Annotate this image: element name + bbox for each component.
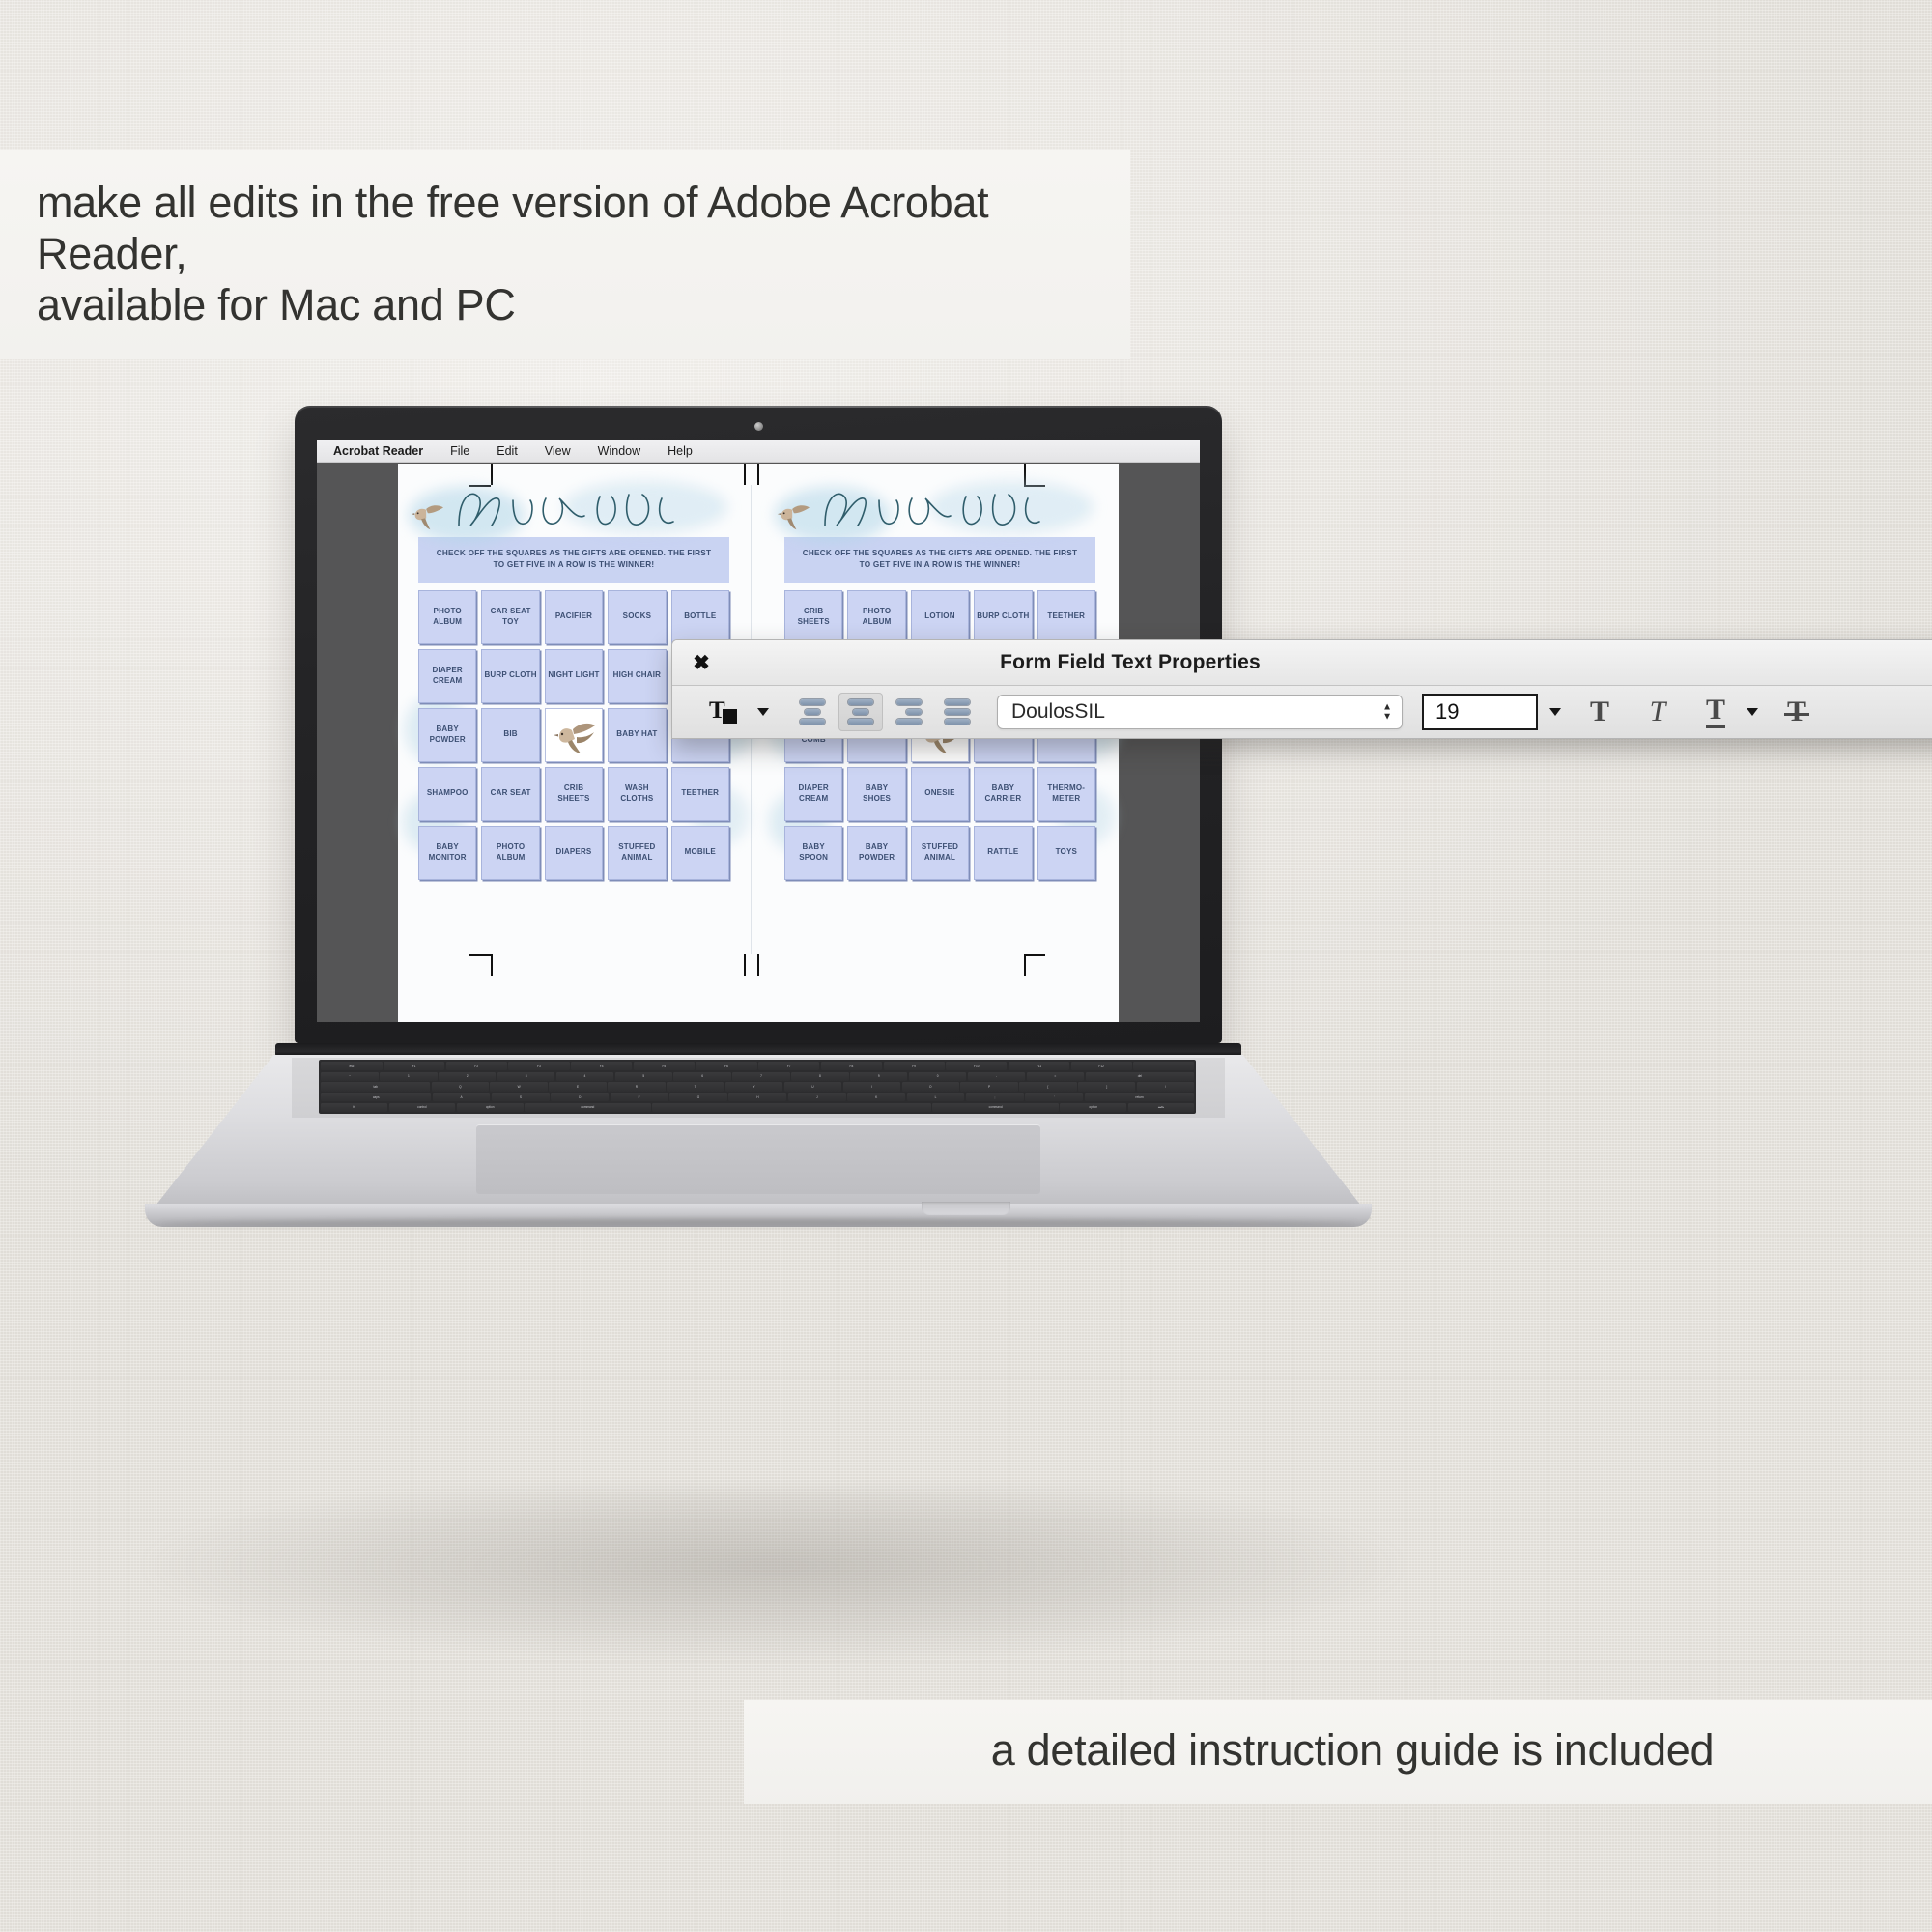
key[interactable]: \ [1137,1082,1194,1091]
key-arrows[interactable]: ◂▴▾▸ [1128,1103,1195,1112]
key[interactable]: Y [725,1082,782,1091]
key[interactable]: 0 [909,1072,966,1081]
key[interactable]: W [490,1082,547,1091]
align-left-button[interactable] [790,693,835,731]
close-icon[interactable]: ✖ [692,653,711,672]
key[interactable]: esc [321,1062,382,1070]
bingo-cell[interactable]: BOTTLE [671,590,729,644]
key[interactable] [1133,1062,1194,1070]
bingo-cell[interactable]: CAR SEAT TOY [481,590,539,644]
keyboard-row-bottom: fn control option command command option… [321,1103,1194,1112]
bingo-cell[interactable]: BABY SHOES [847,767,905,821]
key[interactable]: R [608,1082,665,1091]
bingo-cell[interactable]: WASH CLOTHS [608,767,666,821]
bingo-cell[interactable]: NIGHT LIGHT [545,649,603,703]
key[interactable]: E [549,1082,606,1091]
bingo-cell[interactable]: STUFFED ANIMAL [608,826,666,880]
key[interactable]: L [907,1093,965,1101]
key[interactable]: = [1027,1072,1084,1081]
key[interactable]: F [611,1093,668,1101]
key[interactable]: 4 [556,1072,613,1081]
bingo-cell[interactable]: STUFFED ANIMAL [911,826,969,880]
acrobat-workspace: CHECK OFF THE SQUARES AS THE GIFTS ARE O… [317,464,1200,1022]
bingo-cell[interactable]: PHOTO ALBUM [847,590,905,644]
keyboard[interactable]: esc F1 F2 F3 F4 F5 F6 F7 F8 F9 F10 F11 F… [319,1060,1196,1114]
font-size-value: 19 [1435,699,1459,724]
key-option[interactable]: option [457,1103,524,1112]
bingo-cell[interactable]: MOBILE [671,826,729,880]
bingo-cell[interactable]: SOCKS [608,590,666,644]
underline-chevron-down-icon[interactable] [1747,708,1758,716]
text-color-button[interactable]: T [699,693,752,731]
italic-icon: T [1650,697,1666,726]
card-script-title [790,481,1080,537]
dialog-toolbar[interactable]: T [672,686,1932,738]
underline-icon: T [1706,696,1725,728]
bingo-cell[interactable]: THERMO-METER [1037,767,1095,821]
bingo-cell[interactable]: TEETHER [1037,590,1095,644]
bingo-cell[interactable]: SHAMPOO [418,767,476,821]
crop-mark-br-v [1024,954,1026,976]
bingo-cell[interactable]: CAR SEAT [481,767,539,821]
bingo-cell[interactable]: BABY POWDER [418,708,476,762]
key[interactable]: ; [966,1093,1024,1101]
screenshot-canvas: make all edits in the free version of Ad… [0,0,1932,1932]
crop-mark-br-h [1024,954,1045,956]
macos-menubar[interactable]: Acrobat Reader File Edit View Window Hel… [317,440,1200,463]
crop-mark-bl-v [491,954,493,976]
key[interactable]: I [843,1082,900,1091]
bingo-cell[interactable]: ONESIE [911,767,969,821]
bingo-cell[interactable]: PACIFIER [545,590,603,644]
key[interactable]: F2 [446,1062,507,1070]
align-right-icon [896,699,922,724]
key[interactable]: F10 [946,1062,1007,1070]
menu-item-file[interactable]: File [437,444,483,458]
menu-item-help[interactable]: Help [654,444,706,458]
keyboard-row-number: ~ 1 2 3 4 5 6 7 8 9 0 - = del [321,1072,1194,1081]
menu-item-view[interactable]: View [531,444,584,458]
menu-item-window[interactable]: Window [584,444,654,458]
align-justify-button[interactable] [935,693,980,731]
key[interactable]: F9 [884,1062,945,1070]
key-control[interactable]: control [389,1103,456,1112]
key[interactable]: P [960,1082,1017,1091]
bird-illustration [407,498,447,531]
crop-mark-tm2-v [757,464,759,485]
key[interactable]: 1 [380,1072,437,1081]
font-family-select[interactable]: DoulosSIL ▲▼ [997,695,1403,729]
key-fn[interactable]: fn [321,1103,387,1112]
align-center-button[interactable] [838,693,883,731]
key[interactable]: 2 [439,1072,496,1081]
lid-highlight [295,406,1222,408]
laptop-front-notch [922,1202,1010,1215]
card-instruction-right: CHECK OFF THE SQUARES AS THE GIFTS ARE O… [784,537,1095,583]
key[interactable]: F3 [508,1062,569,1070]
font-size-input[interactable]: 19 [1422,694,1538,730]
key-caps-lock[interactable]: caps [321,1093,431,1101]
key[interactable]: ' [1025,1093,1083,1101]
bingo-cell[interactable]: TEETHER [671,767,729,821]
key[interactable]: U [784,1082,841,1091]
key[interactable]: 5 [615,1072,672,1081]
key-return[interactable]: return [1085,1093,1195,1101]
bingo-cell[interactable]: CRIB SHEETS [784,590,842,644]
align-left-icon [800,699,825,724]
bingo-cell[interactable]: LOTION [911,590,969,644]
key[interactable]: - [968,1072,1025,1081]
bingo-cell[interactable]: CRIB SHEETS [545,767,603,821]
key[interactable]: G [669,1093,727,1101]
text-color-icon: T [709,697,742,726]
bingo-cell[interactable]: TOYS [1037,826,1095,880]
key[interactable]: 9 [850,1072,907,1081]
chevron-down-icon[interactable] [757,708,769,716]
bold-button[interactable]: T [1573,693,1627,731]
key[interactable]: 6 [673,1072,730,1081]
key[interactable]: F1 [384,1062,444,1070]
bingo-cell[interactable]: DIAPER CREAM [784,767,842,821]
align-right-button[interactable] [887,693,931,731]
key[interactable]: Q [432,1082,489,1091]
key[interactable]: F4 [571,1062,632,1070]
crop-mark-tm1-v [744,464,746,485]
bingo-cell[interactable]: BABY HAT [608,708,666,762]
chevron-updown-icon[interactable]: ▲▼ [1382,704,1392,721]
laptop-base: esc F1 F2 F3 F4 F5 F6 F7 F8 F9 F10 F11 F… [145,1055,1372,1219]
webcam-icon [754,422,763,431]
laptop-contact-shadow [159,1219,1357,1229]
bingo-cell[interactable]: BABY POWDER [847,826,905,880]
crop-mark-bl-h [469,954,491,956]
strikethrough-button[interactable]: T [1770,693,1824,731]
key[interactable]: T [667,1082,724,1091]
bingo-cell[interactable]: BURP CLOTH [974,590,1032,644]
key[interactable]: D [551,1093,609,1101]
bingo-free-space[interactable] [545,708,603,762]
key[interactable]: 3 [497,1072,554,1081]
key[interactable]: J [788,1093,846,1101]
key[interactable]: ] [1078,1082,1135,1091]
align-center-icon [848,699,873,724]
key-command[interactable]: command [525,1103,651,1112]
keyboard-row-function: esc F1 F2 F3 F4 F5 F6 F7 F8 F9 F10 F11 F… [321,1062,1194,1070]
bingo-cell[interactable]: HIGH CHAIR [608,649,666,703]
pdf-page[interactable]: CHECK OFF THE SQUARES AS THE GIFTS ARE O… [398,464,1119,1022]
bird-illustration [773,498,813,531]
bird-illustration [552,716,596,754]
key[interactable]: A [433,1093,491,1101]
bingo-cell[interactable]: BURP CLOTH [481,649,539,703]
key[interactable]: K [847,1093,905,1101]
key-tab[interactable]: tab [321,1082,430,1091]
bold-icon: T [1590,697,1609,726]
key-space[interactable] [652,1103,931,1112]
crop-mark-bm2-v [757,954,759,976]
lid-hinge [275,1043,1241,1057]
dialog-title: Form Field Text Properties [672,651,1932,674]
key[interactable]: ~ [321,1072,378,1081]
align-justify-icon [945,699,970,724]
strikethrough-icon: T [1787,697,1806,726]
menubar-app-name[interactable]: Acrobat Reader [333,444,437,458]
menu-item-edit[interactable]: Edit [483,444,531,458]
keyboard-row-top: tab Q W E R T Y U I O P [ ] \ [321,1082,1194,1091]
font-family-value: DoulosSIL [1011,700,1105,724]
bingo-cell[interactable]: DIAPERS [545,826,603,880]
keyboard-row-home: caps A S D F G H J K L ; ' return [321,1093,1194,1101]
key[interactable]: H [728,1093,786,1101]
key[interactable]: F6 [696,1062,756,1070]
bingo-cell[interactable]: BIB [481,708,539,762]
bingo-cell[interactable]: RATTLE [974,826,1032,880]
key-command-right[interactable]: command [932,1103,1059,1112]
bingo-cell[interactable]: DIAPER CREAM [418,649,476,703]
key[interactable]: F12 [1071,1062,1132,1070]
key-delete[interactable]: del [1086,1072,1195,1081]
key[interactable]: F7 [758,1062,819,1070]
caption-bottom: a detailed instruction guide is included [744,1700,1932,1804]
key[interactable]: [ [1019,1082,1076,1091]
bingo-cell[interactable]: BABY MONITOR [418,826,476,880]
bingo-cell[interactable]: PHOTO ALBUM [418,590,476,644]
key-option-right[interactable]: option [1060,1103,1126,1112]
form-field-text-properties-dialog[interactable]: ✖ Form Field Text Properties T [671,639,1932,739]
base-surface: esc F1 F2 F3 F4 F5 F6 F7 F8 F9 F10 F11 F… [145,1055,1372,1219]
crop-mark-bm1-v [744,954,746,976]
card-instruction-left: CHECK OFF THE SQUARES AS THE GIFTS ARE O… [418,537,729,583]
bingo-cell[interactable]: BABY SPOON [784,826,842,880]
trackpad[interactable] [476,1124,1040,1194]
key[interactable]: O [902,1082,959,1091]
bingo-cell[interactable]: PHOTO ALBUM [481,826,539,880]
italic-button[interactable]: T [1631,693,1685,731]
key[interactable]: F8 [821,1062,882,1070]
key[interactable]: 7 [732,1072,789,1081]
key[interactable]: F5 [634,1062,695,1070]
font-size-chevron-down-icon[interactable] [1549,708,1561,716]
underline-button[interactable]: T [1689,693,1743,731]
dialog-titlebar[interactable]: ✖ Form Field Text Properties [672,640,1932,686]
key[interactable]: 8 [791,1072,848,1081]
bingo-cell[interactable]: BABY CARRIER [974,767,1032,821]
key[interactable]: F11 [1009,1062,1069,1070]
key[interactable]: S [492,1093,550,1101]
card-script-title [424,481,714,537]
laptop-mockup: Acrobat Reader File Edit View Window Hel… [0,0,1932,1932]
